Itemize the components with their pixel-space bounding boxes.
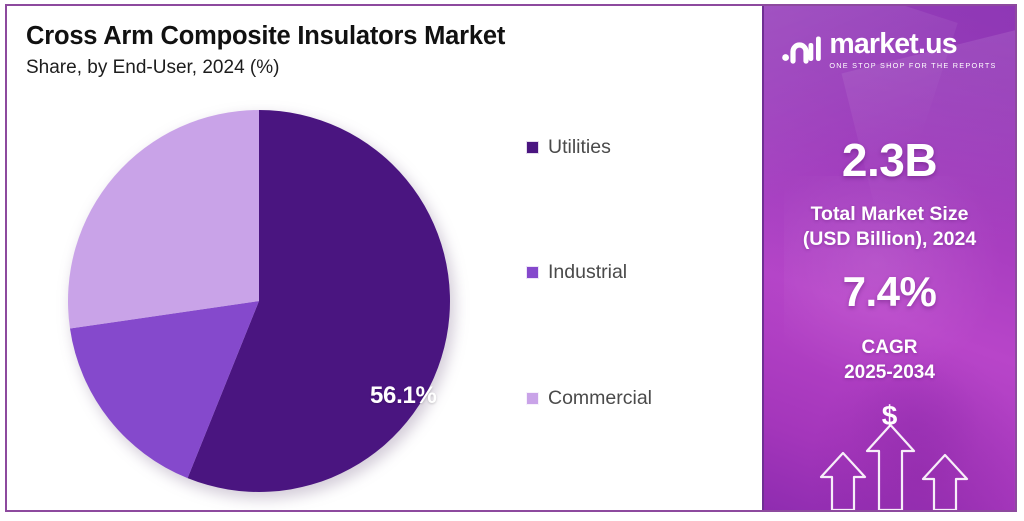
market-size-caption-line2: (USD Billion), 2024 <box>764 227 1015 252</box>
cagr-caption-line1: CAGR <box>764 336 1015 361</box>
infographic-card: Cross Arm Composite Insulators Market Sh… <box>5 4 1017 512</box>
chart-subtitle: Share, by End-User, 2024 (%) <box>26 57 726 79</box>
legend-item-label: Utilities <box>548 138 611 158</box>
cagr-caption-line2: 2025-2034 <box>764 361 1015 386</box>
screenshot-canvas: Cross Arm Composite Insulators Market Sh… <box>0 0 1024 521</box>
pie-chart-graphic <box>67 109 451 493</box>
pie-slice[interactable] <box>68 110 259 329</box>
brand-panel: market.us ONE STOP SHOP FOR THE REPORTS … <box>762 6 1015 510</box>
legend-item-label: Commercial <box>548 389 652 409</box>
growth-arrows-icon <box>764 405 1015 510</box>
legend-item-commercial[interactable]: Commercial <box>526 389 652 409</box>
market-us-logo-icon <box>782 31 822 67</box>
legend-item-label: Industrial <box>548 263 627 283</box>
brand-name: market.us <box>829 28 956 60</box>
page-title: Cross Arm Composite Insulators Market <box>26 22 726 50</box>
brand-logo[interactable]: market.us ONE STOP SHOP FOR THE REPORTS <box>764 30 1015 69</box>
market-size-value: 2.3B <box>764 137 1015 183</box>
legend-swatch-icon <box>526 141 539 154</box>
pie-slice-label-utilities: 56.1% <box>370 382 437 410</box>
cagr-value: 7.4% <box>764 271 1015 313</box>
pie-svg <box>67 109 451 493</box>
chart-panel: Cross Arm Composite Insulators Market Sh… <box>7 6 763 510</box>
brand-logo-text: market.us ONE STOP SHOP FOR THE REPORTS <box>829 30 996 69</box>
legend-swatch-icon <box>526 266 539 279</box>
cagr-caption: CAGR 2025-2034 <box>764 336 1015 385</box>
chart-heading-block: Cross Arm Composite Insulators Market Sh… <box>26 22 726 79</box>
legend-item-industrial[interactable]: Industrial <box>526 263 627 283</box>
brand-content: market.us ONE STOP SHOP FOR THE REPORTS … <box>764 6 1015 510</box>
market-size-caption: Total Market Size (USD Billion), 2024 <box>764 202 1015 252</box>
brand-tagline: ONE STOP SHOP FOR THE REPORTS <box>829 62 996 69</box>
legend-swatch-icon <box>526 392 539 405</box>
market-size-caption-line1: Total Market Size <box>764 202 1015 227</box>
legend-item-utilities[interactable]: Utilities <box>526 138 611 158</box>
pie-chart: 56.1% <box>65 107 457 499</box>
